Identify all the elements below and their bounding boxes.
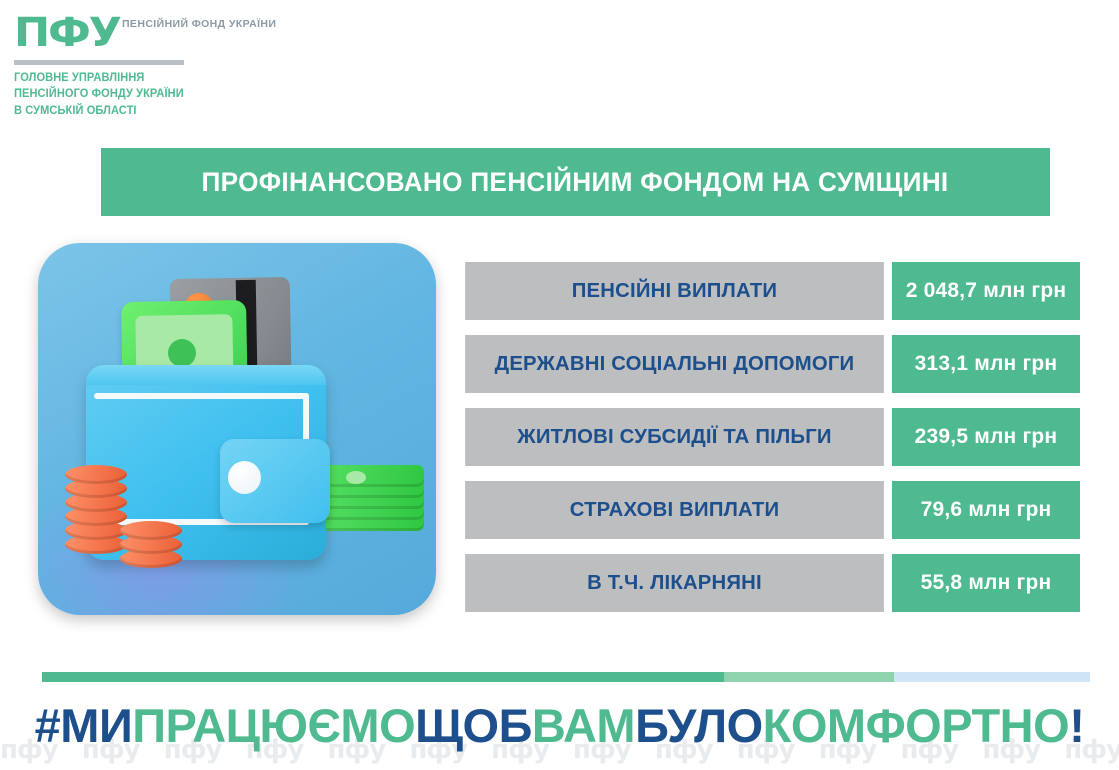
cash-stack-seal-icon [346, 471, 366, 484]
hashtag-part-6: ! [1069, 699, 1084, 752]
stat-label: ПЕНСІЙНІ ВИПЛАТИ [465, 262, 884, 320]
illustration-backdrop [38, 243, 436, 615]
stat-value: 55,8 млн грн [892, 554, 1080, 612]
hashtag-part-3: ВАМ [532, 699, 635, 752]
stat-label: ДЕРЖАВНІ СОЦІАЛЬНІ ДОПОМОГИ [465, 335, 884, 393]
hashtag-part-1: ПРАЦЮЄМО [132, 699, 415, 752]
accent-bar-segment-light-blue [894, 672, 1090, 682]
pfu-logo-mark: ПФУ [14, 14, 120, 52]
page-title-banner: ПРОФІНАНСОВАНО ПЕНСІЙНИМ ФОНДОМ НА СУМЩИ… [101, 148, 1050, 216]
stat-label: ЖИТЛОВІ СУБСИДІЇ ТА ПІЛЬГИ [465, 408, 884, 466]
hashtag-part-5: КОМФОРТНО [763, 699, 1070, 752]
cash-stack-icon [314, 465, 424, 541]
stat-value: 2 048,7 млн грн [892, 262, 1080, 320]
table-row: ДЕРЖАВНІ СОЦІАЛЬНІ ДОПОМОГИ 313,1 млн гр… [463, 335, 1080, 393]
stat-label: В Т.Ч. ЛІКАРНЯНІ [465, 554, 884, 612]
banknote-seal-icon [168, 339, 196, 367]
wallet-clasp-button [228, 461, 261, 494]
stat-value: 313,1 млн грн [892, 335, 1080, 393]
coin-stack-tall-icon [65, 465, 127, 557]
coin-stack-short-icon [120, 515, 182, 571]
logo-divider [14, 60, 184, 65]
table-row: В Т.Ч. ЛІКАРНЯНІ 55,8 млн грн [463, 554, 1080, 612]
hashtag-part-0: #МИ [35, 699, 133, 752]
logo-top-row: ПФУ Пенсійний фонд України [14, 14, 294, 52]
wallet-top-edge [86, 365, 326, 385]
page-title: ПРОФІНАНСОВАНО ПЕНСІЙНИМ ФОНДОМ НА СУМЩИ… [202, 167, 949, 198]
wallet-money-illustration [38, 243, 436, 615]
footer-accent-bar [42, 672, 1090, 682]
accent-bar-segment-light-green [724, 672, 894, 682]
organization-logo: ПФУ Пенсійний фонд України ГОЛОВНЕ УПРАВ… [14, 14, 294, 119]
table-row: СТРАХОВІ ВИПЛАТИ 79,6 млн грн [463, 481, 1080, 539]
logo-subtitle: Пенсійний фонд України [122, 17, 276, 32]
hashtag-part-4: БУЛО [635, 699, 763, 752]
logo-department-name: ГОЛОВНЕ УПРАВЛІННЯ ПЕНСІЙНОГО ФОНДУ УКРА… [14, 70, 283, 119]
footer: пфу пфу пфу пфу пфу пфу пфу пфу пфу пфу … [0, 660, 1119, 770]
stat-value: 239,5 млн грн [892, 408, 1080, 466]
hashtag-part-2: ЩОБ [415, 699, 532, 752]
table-row: ЖИТЛОВІ СУБСИДІЇ ТА ПІЛЬГИ 239,5 млн грн [463, 408, 1080, 466]
wallet-seam-top [94, 393, 309, 399]
stat-label: СТРАХОВІ ВИПЛАТИ [465, 481, 884, 539]
financing-stats-table: ПЕНСІЙНІ ВИПЛАТИ 2 048,7 млн грн ДЕРЖАВН… [463, 262, 1080, 627]
stat-value: 79,6 млн грн [892, 481, 1080, 539]
accent-bar-segment-green [42, 672, 724, 682]
table-row: ПЕНСІЙНІ ВИПЛАТИ 2 048,7 млн грн [463, 262, 1080, 320]
campaign-hashtag: #МИПРАЦЮЄМОЩОБВАМБУЛОКОМФОРТНО! [0, 698, 1119, 753]
